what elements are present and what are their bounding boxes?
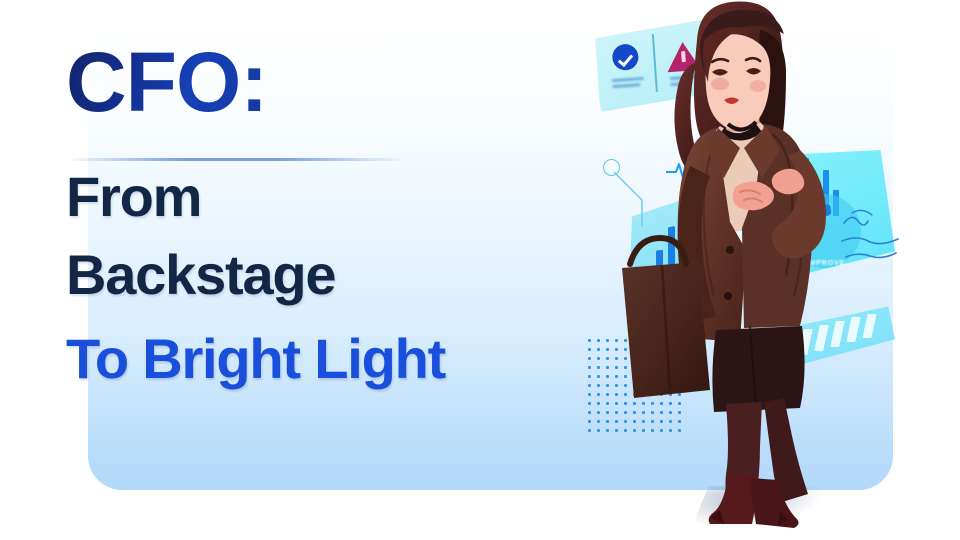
- headline-line-1: From: [66, 168, 201, 225]
- headline-line-3: To Bright Light: [66, 330, 445, 387]
- headline-block: CFO:: [66, 44, 686, 121]
- businesswoman-illustration: [600, 0, 930, 540]
- page-title-eyebrow: CFO:: [66, 44, 267, 121]
- headline-divider: [66, 158, 406, 161]
- headline-line-2: Backstage: [66, 246, 335, 303]
- poster-canvas: CFO: From Backstage To Bright Light 82% …: [0, 0, 960, 540]
